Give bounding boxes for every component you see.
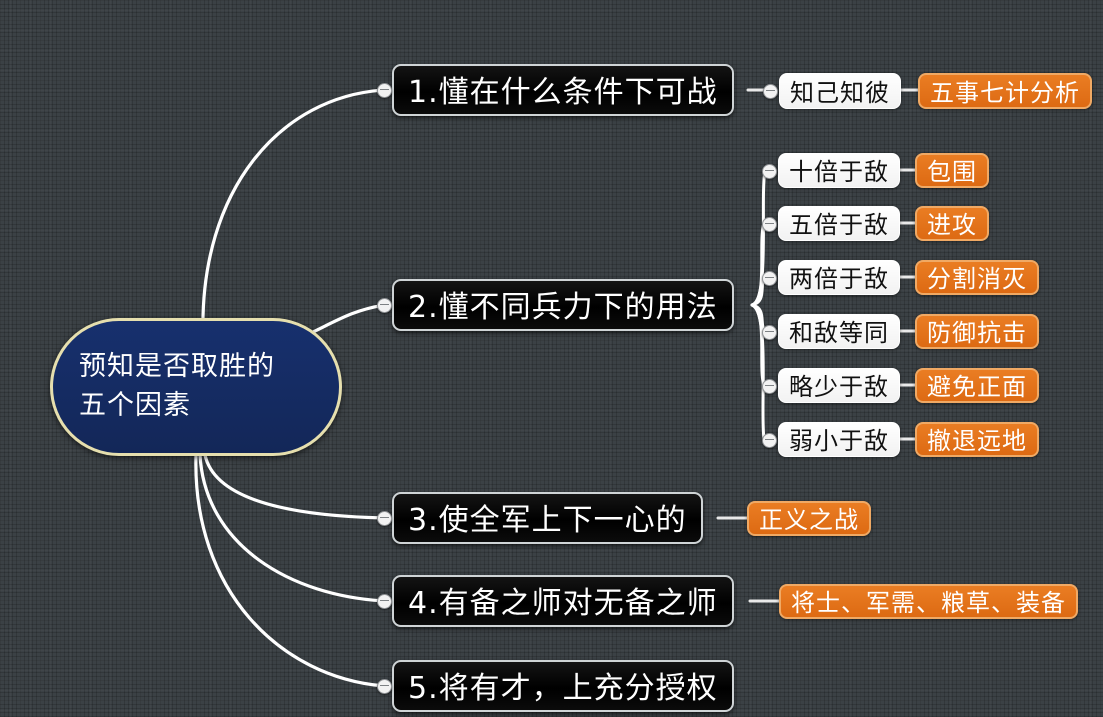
subnode-zhijizhibi-label: 知己知彼 xyxy=(790,73,890,108)
leaf-baowei[interactable]: 包围 xyxy=(915,153,989,188)
leaf-bimianzhengmian[interactable]: 避免正面 xyxy=(915,368,1039,403)
branch-5-label: 5.将有才，上充分授权 xyxy=(408,663,718,707)
subnode-lueshaoyudi[interactable]: 略少于敌 xyxy=(778,368,900,403)
leaf-jingong-label: 进攻 xyxy=(927,205,977,240)
subnode-hedidengtong-label: 和敌等同 xyxy=(789,313,889,348)
leaf-zhengyizhizhan[interactable]: 正义之战 xyxy=(747,501,871,536)
leaf-jiangshi-junxu-liangcao-zhuangbei[interactable]: 将士、军需、粮草、装备 xyxy=(779,584,1078,619)
subnode-ruoxiaoyudi-connector-dot xyxy=(762,433,777,448)
leaf-fangyukangji[interactable]: 防御抗击 xyxy=(915,314,1039,349)
subnode-hedidengtong-connector-dot xyxy=(762,325,777,340)
leaf-wushiqiji-label: 五事七计分析 xyxy=(930,73,1080,108)
branch-node-1[interactable]: 1.懂在什么条件下可战 xyxy=(392,64,734,116)
subnode-shibeiyudi-connector-dot xyxy=(762,164,777,179)
leaf-chetuiyuandi-label: 撤退远地 xyxy=(927,421,1027,456)
branch-4-connector-dot xyxy=(377,594,392,609)
branch-3-connector-dot xyxy=(377,511,392,526)
branch-4-label: 4.有备之师对无备之师 xyxy=(408,578,718,622)
subnode-lueshaoyudi-connector-dot xyxy=(762,379,777,394)
leaf-zhengyizhizhan-label: 正义之战 xyxy=(759,500,859,535)
root-label-line2: 五个因素 xyxy=(79,386,191,425)
branch-2-connector-dot xyxy=(377,298,392,313)
subnode-wubeiyudi-label: 五倍于敌 xyxy=(789,205,889,240)
leaf-wushiqiji[interactable]: 五事七计分析 xyxy=(918,73,1092,109)
branch-node-2[interactable]: 2.懂不同兵力下的用法 xyxy=(392,279,734,331)
subnode-liangbeiyudi-connector-dot xyxy=(762,271,777,286)
branch-node-3[interactable]: 3.使全军上下一心的 xyxy=(392,492,703,544)
branch-node-4[interactable]: 4.有备之师对无备之师 xyxy=(392,575,734,627)
root-node[interactable]: 预知是否取胜的 五个因素 xyxy=(50,318,342,456)
branch-1-connector-dot xyxy=(377,83,392,98)
branch-node-5[interactable]: 5.将有才，上充分授权 xyxy=(392,660,734,712)
branch-5-connector-dot xyxy=(377,679,392,694)
leaf-fengexiaomie[interactable]: 分割消灭 xyxy=(915,260,1039,295)
branch-1-label: 1.懂在什么条件下可战 xyxy=(408,67,718,111)
leaf-fangyukangji-label: 防御抗击 xyxy=(927,313,1027,348)
leaf-jiangshi-label: 将士、军需、粮草、装备 xyxy=(791,583,1066,618)
subnode-lueshaoyudi-label: 略少于敌 xyxy=(789,367,889,402)
leaf-chetuiyuandi[interactable]: 撤退远地 xyxy=(915,422,1039,457)
subnode-wubeiyudi[interactable]: 五倍于敌 xyxy=(778,206,900,241)
leaf-jingong[interactable]: 进攻 xyxy=(915,206,989,241)
subnode-shibeiyudi-label: 十倍于敌 xyxy=(789,152,889,187)
leaf-bimianzhengmian-label: 避免正面 xyxy=(927,367,1027,402)
subnode-hedidengtong[interactable]: 和敌等同 xyxy=(778,314,900,349)
leaf-baowei-label: 包围 xyxy=(927,152,977,187)
branch-2-label: 2.懂不同兵力下的用法 xyxy=(408,282,718,326)
subnode-ruoxiaoyudi[interactable]: 弱小于敌 xyxy=(778,422,900,457)
leaf-fengexiaomie-label: 分割消灭 xyxy=(927,259,1027,294)
branch-3-label: 3.使全军上下一心的 xyxy=(408,495,687,539)
subnode-liangbeiyudi-label: 两倍于敌 xyxy=(789,259,889,294)
mindmap-canvas: 预知是否取胜的 五个因素 1.懂在什么条件下可战 2.懂不同兵力下的用法 3.使… xyxy=(0,0,1103,717)
subnode-ruoxiaoyudi-label: 弱小于敌 xyxy=(789,421,889,456)
subnode-shibeiyudi[interactable]: 十倍于敌 xyxy=(778,153,900,188)
subnode-zhijizhibi-connector-dot xyxy=(763,84,778,99)
root-label-line1: 预知是否取胜的 xyxy=(79,347,275,386)
subnode-liangbeiyudi[interactable]: 两倍于敌 xyxy=(778,260,900,295)
subnode-wubeiyudi-connector-dot xyxy=(762,217,777,232)
subnode-zhijizhibi[interactable]: 知己知彼 xyxy=(779,73,901,109)
